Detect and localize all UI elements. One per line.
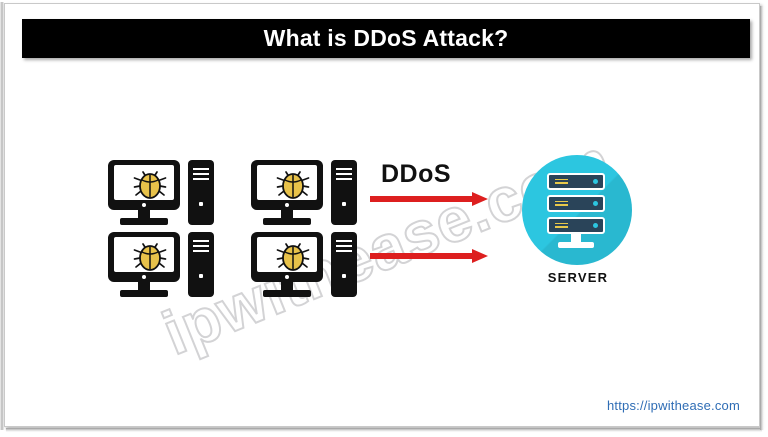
- server-stand-base: [558, 242, 594, 248]
- server-target: SERVER: [520, 155, 636, 300]
- monitor-power-dot: [142, 203, 146, 207]
- tower-power-dot: [342, 202, 346, 206]
- bug-icon: [132, 240, 168, 272]
- title-banner: What is DDoS Attack?: [22, 19, 750, 58]
- attack-arrow-top: [370, 192, 488, 206]
- tower-power-dot: [199, 202, 203, 206]
- rack-status-dot: [593, 179, 598, 184]
- tower-vent-line: [193, 245, 209, 247]
- monitor-power-dot: [285, 203, 289, 207]
- tower-power-dot: [342, 274, 346, 278]
- server-label: SERVER: [520, 270, 636, 285]
- monitor-base: [263, 218, 311, 225]
- monitor-icon: [108, 160, 180, 212]
- tower-vent-line: [193, 240, 209, 242]
- rack-indicator-line: [555, 226, 568, 228]
- tower-icon: [331, 160, 357, 225]
- tower-vent-line: [193, 168, 209, 170]
- attack-arrow-bottom: [370, 249, 488, 263]
- rack-indicator-line: [555, 204, 568, 206]
- frame-shadow-bottom: [6, 428, 762, 432]
- attacker-computer-2: [251, 160, 359, 228]
- tower-vent-line: [336, 178, 352, 180]
- monitor-base: [120, 290, 168, 297]
- rack-status-dot: [593, 223, 598, 228]
- attacker-computer-4: [251, 232, 359, 300]
- attacker-computer-1: [108, 160, 216, 228]
- arrow-head: [472, 249, 488, 263]
- tower-vent-line: [193, 178, 209, 180]
- tower-vent-line: [336, 173, 352, 175]
- rack-indicator-line: [555, 182, 568, 184]
- monitor-screen: [257, 237, 317, 272]
- monitor-screen: [257, 165, 317, 200]
- tower-vent-line: [193, 173, 209, 175]
- rack-indicator-line: [555, 223, 568, 225]
- server-rack-unit: [547, 173, 605, 190]
- monitor-screen: [114, 165, 174, 200]
- tower-vent-line: [336, 245, 352, 247]
- arrow-head: [472, 192, 488, 206]
- monitor-icon: [251, 160, 323, 212]
- rack-indicator-line: [555, 201, 568, 203]
- bug-icon: [132, 168, 168, 200]
- tower-vent-line: [336, 250, 352, 252]
- server-rack-unit: [547, 195, 605, 212]
- server-rack-unit: [547, 217, 605, 234]
- arrow-shaft: [370, 253, 474, 259]
- tower-icon: [188, 232, 214, 297]
- attacker-computer-3: [108, 232, 216, 300]
- bug-icon: [275, 240, 311, 272]
- monitor-icon: [108, 232, 180, 284]
- tower-icon: [331, 232, 357, 297]
- diagram-canvas: What is DDoS Attack? ipwithease.com: [0, 0, 768, 437]
- rack-indicator-line: [555, 179, 568, 181]
- frame-shadow-right: [760, 6, 764, 430]
- ddos-label: DDoS: [381, 160, 451, 189]
- monitor-base: [263, 290, 311, 297]
- tower-vent-line: [193, 250, 209, 252]
- monitor-power-dot: [285, 275, 289, 279]
- tower-vent-line: [336, 168, 352, 170]
- tower-vent-line: [336, 240, 352, 242]
- arrow-shaft: [370, 196, 474, 202]
- tower-power-dot: [199, 274, 203, 278]
- footer-url[interactable]: https://ipwithease.com: [607, 398, 740, 413]
- page-title: What is DDoS Attack?: [264, 25, 509, 52]
- tower-icon: [188, 160, 214, 225]
- monitor-screen: [114, 237, 174, 272]
- rack-status-dot: [593, 201, 598, 206]
- monitor-power-dot: [142, 275, 146, 279]
- monitor-icon: [251, 232, 323, 284]
- monitor-base: [120, 218, 168, 225]
- bug-icon: [275, 168, 311, 200]
